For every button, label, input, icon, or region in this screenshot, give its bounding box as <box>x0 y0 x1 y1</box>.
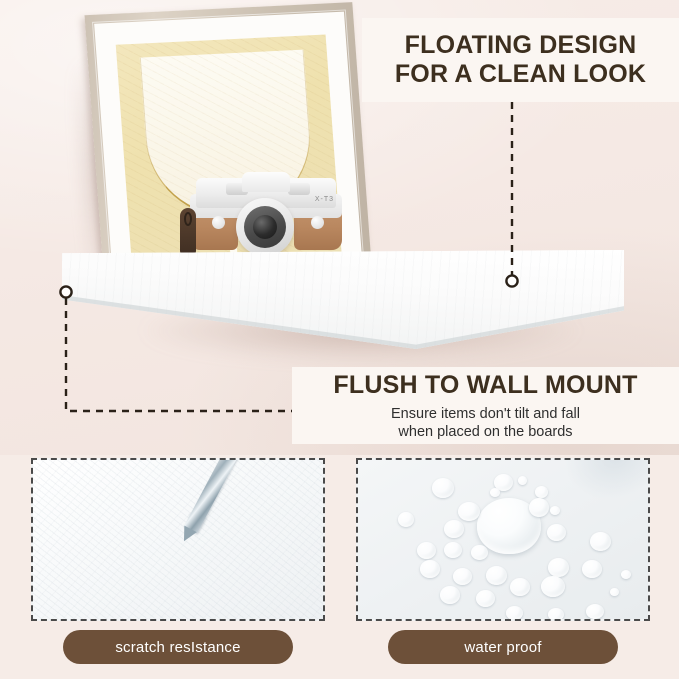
callout-title-flush: FLUSH TO WALL MOUNT <box>333 371 637 401</box>
camera-lens <box>236 198 294 256</box>
camera-knob-left <box>212 216 225 229</box>
shelf-body <box>62 250 624 360</box>
water-droplet <box>476 590 495 607</box>
camera-lens-glass <box>253 215 277 239</box>
scratch-resistance-photo <box>33 460 323 619</box>
water-droplet <box>541 576 565 597</box>
water-droplet <box>417 542 436 559</box>
water-droplet <box>535 486 548 498</box>
water-droplet <box>548 608 564 621</box>
water-droplet <box>432 478 454 498</box>
water-droplet <box>586 604 604 619</box>
camera-viewfinder-prism <box>242 172 290 192</box>
water-droplet <box>440 586 460 604</box>
callout-subtitle-line-2: when placed on the boards <box>398 423 572 442</box>
water-proof-photo <box>358 460 648 619</box>
water-droplet <box>444 520 464 538</box>
water-droplet <box>444 542 462 558</box>
water-droplet <box>590 532 611 551</box>
water-droplet <box>621 570 631 579</box>
camera-strap <box>180 208 196 256</box>
camera-dial-right <box>288 183 310 195</box>
camera-model-label: X-T3 <box>315 196 334 203</box>
camera-lens-barrel <box>244 206 286 248</box>
camera-knob-right <box>311 216 324 229</box>
callout-card-floating-design: FLOATING DESIGN FOR A CLEAN LOOK <box>362 18 679 102</box>
product-feature-image: X-T3 <box>0 0 679 679</box>
panel-water-proof <box>356 458 650 621</box>
callout-card-flush-mount: FLUSH TO WALL MOUNT Ensure items don't t… <box>292 367 679 444</box>
camera-prop: X-T3 <box>186 172 346 256</box>
feature-panels: scratch resIstance <box>0 455 679 679</box>
water-droplet <box>490 488 500 497</box>
floating-shelf <box>62 250 624 360</box>
label-scratch-resistance: scratch resIstance <box>63 630 293 664</box>
hero-scene: X-T3 <box>0 0 679 455</box>
label-water-proof: water proof <box>388 630 618 664</box>
water-droplet <box>486 566 507 585</box>
water-droplet <box>506 606 523 620</box>
water-droplet <box>458 502 480 521</box>
water-droplet <box>582 560 602 578</box>
shelf-wood-grain <box>62 250 624 360</box>
shelf-surface-grain <box>33 460 323 619</box>
water-droplet <box>510 578 530 596</box>
callout-title-line-1: FLOATING DESIGN <box>405 31 637 61</box>
water-droplet <box>547 524 566 541</box>
water-droplet <box>610 588 619 596</box>
water-droplet <box>550 506 560 515</box>
water-droplet <box>518 476 527 485</box>
callout-subtitle-line-1: Ensure items don't tilt and fall <box>391 405 580 424</box>
water-droplet <box>398 512 414 527</box>
water-droplet <box>529 498 549 517</box>
water-droplet <box>548 558 569 577</box>
panel-scratch-resistance <box>31 458 325 621</box>
water-droplet <box>471 545 488 560</box>
water-droplet <box>453 568 472 585</box>
water-droplet <box>420 560 440 578</box>
callout-title-line-2: FOR A CLEAN LOOK <box>395 60 646 90</box>
